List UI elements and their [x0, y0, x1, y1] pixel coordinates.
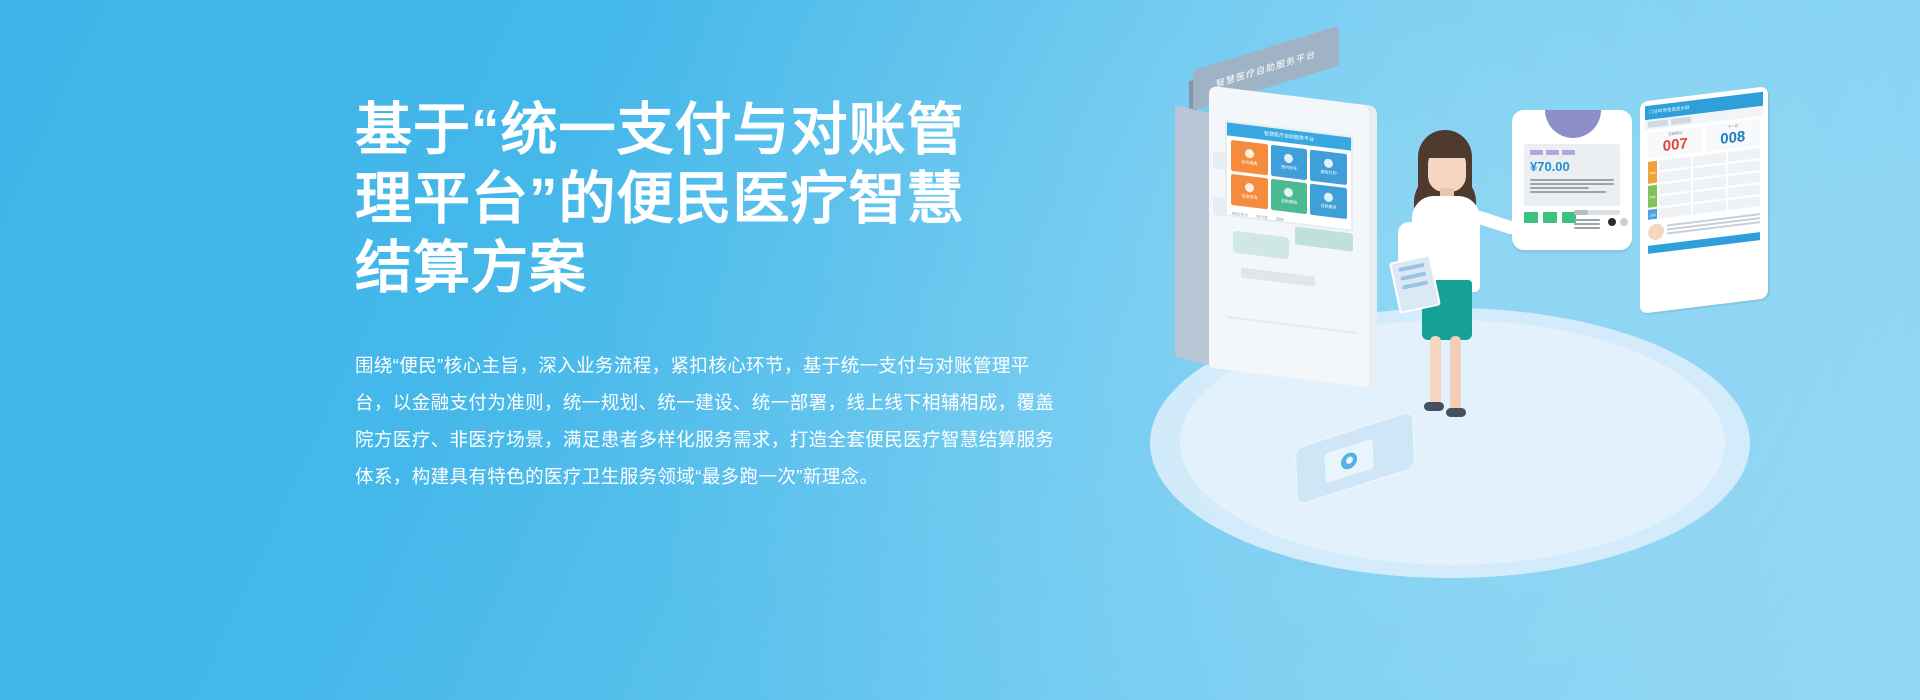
e-card-icon [1341, 450, 1358, 471]
self-service-kiosk: 智慧医疗自助服务平台 智慧医疗自助服务平台 挂号缴费 预约挂号 [1175, 48, 1405, 378]
receipt-line-1 [1530, 179, 1614, 181]
payment-tab-3 [1562, 150, 1575, 155]
payment-slider-knob [1574, 210, 1588, 215]
kiosk-tile-icon-1 [1284, 153, 1293, 163]
payment-slider-bar [1574, 210, 1620, 215]
payment-terminal-indicators [1608, 218, 1628, 226]
queue-subheader-chip-2 [1671, 117, 1691, 125]
payment-terminal-keys [1524, 212, 1576, 223]
doctor-leg-left [1430, 336, 1441, 406]
page-title-line-3: 结算方案 [355, 234, 1115, 303]
payment-note-3 [1574, 227, 1600, 229]
banner-description-line-2: 台，以金融支付为准则，统一规划、统一建设、统一部署，线上线下相辅相成，覆盖 [355, 384, 1110, 421]
kiosk-tile-2: 报告打印 [1310, 150, 1347, 186]
page-title-line-1: 基于“统一支付与对账管 [355, 96, 1115, 165]
clipboard-line-1 [1398, 263, 1424, 272]
kiosk-tile-icon-3 [1245, 183, 1254, 193]
banner-description-line-1: 围绕“便民”核心主旨，深入业务流程，紧扣核心环节，基于统一支付与对账管理平 [355, 347, 1110, 384]
payment-tab-1 [1530, 150, 1543, 155]
payment-note-2 [1574, 223, 1600, 225]
kiosk-tile-5: 住院服务 [1310, 184, 1347, 220]
payment-terminal: ¥70.00 [1512, 110, 1632, 250]
banner-copy-block: 基于“统一支付与对账管 理平台”的便民医疗智慧 结算方案 围绕“便民”核心主旨，… [355, 96, 1115, 495]
payment-key-1 [1524, 212, 1538, 223]
kiosk-tile-icon-2 [1324, 158, 1333, 168]
receipt-line-2 [1530, 183, 1614, 185]
kiosk-tile-label-1: 预约挂号 [1281, 164, 1297, 172]
kiosk-tile-icon-4 [1284, 187, 1293, 197]
queue-row-tag-0: 内科 [1648, 161, 1657, 184]
payment-receipt-lines [1530, 179, 1614, 193]
kiosk-screen: 智慧医疗自助服务平台 挂号缴费 预约挂号 报告打印 [1225, 120, 1353, 232]
banner-description-line-3: 院方医疗、非医疗场景，满足患者多样化服务需求，打造全套便民医疗智慧结算服务 [355, 421, 1110, 458]
kiosk-tile-label-3: 信息查询 [1241, 193, 1257, 201]
kiosk-payment-logo-2: 银联 [1276, 216, 1284, 223]
payment-amount: ¥70.00 [1530, 159, 1614, 174]
kiosk-tile-3: 信息查询 [1231, 174, 1268, 210]
patient-avatar [1648, 223, 1664, 241]
payment-tab-2 [1546, 150, 1559, 155]
hero-banner: 基于“统一支付与对账管 理平台”的便民医疗智慧 结算方案 围绕“便民”核心主旨，… [0, 0, 1920, 700]
kiosk-tile-label-4: 自助建档 [1281, 198, 1297, 206]
payment-note-1 [1574, 219, 1600, 221]
queue-board-frame: 门诊叫号信息显示屏 当前就诊 007 下一位 008 [1640, 86, 1768, 314]
kiosk-tile-label-5: 住院服务 [1321, 203, 1337, 211]
clipboard-line-3 [1402, 280, 1428, 289]
kiosk-tile-4: 自助建档 [1271, 179, 1308, 215]
indicator-dot-inactive [1620, 218, 1628, 226]
queue-current: 当前就诊 007 [1648, 126, 1703, 159]
queue-subheader-chip-1 [1648, 119, 1668, 127]
clipboard-line-2 [1400, 272, 1426, 281]
kiosk-sign-label: 智慧医疗自助服务平台 [1216, 46, 1316, 90]
queue-display-board: 门诊叫号信息显示屏 当前就诊 007 下一位 008 [1640, 86, 1768, 314]
queue-row-tag-1: 外科 [1648, 185, 1657, 208]
kiosk-tile-1: 预约挂号 [1271, 145, 1308, 181]
payment-terminal-screen: ¥70.00 [1524, 144, 1620, 206]
payment-key-2 [1543, 212, 1557, 223]
kiosk-tile-0: 挂号缴费 [1231, 140, 1268, 176]
indicator-dot-active [1608, 218, 1616, 226]
banner-description-line-4: 体系，构建具有特色的医疗卫生服务领域“最多跑一次”新理念。 [355, 458, 1110, 495]
kiosk-tile-label-0: 挂号缴费 [1241, 159, 1257, 167]
page-title: 基于“统一支付与对账管 理平台”的便民医疗智慧 结算方案 [355, 96, 1115, 303]
receipt-line-3 [1530, 187, 1589, 189]
receipt-line-4 [1530, 191, 1606, 193]
kiosk-tile-label-2: 报告打印 [1321, 169, 1337, 177]
doctor-shoe-left [1424, 402, 1444, 411]
doctor-hair-fringe [1424, 138, 1470, 158]
banner-description: 围绕“便民”核心主旨，深入业务流程，紧扣核心环节，基于统一支付与对账管理平 台，… [355, 347, 1110, 495]
hero-illustration: 智慧医疗自助服务平台 智慧医疗自助服务平台 挂号缴费 预约挂号 [1120, 20, 1800, 660]
health-e-card [1325, 438, 1374, 483]
doctor-figure [1388, 130, 1518, 430]
queue-next: 下一位 008 [1706, 119, 1761, 152]
queue-board-title: 门诊叫号信息显示屏 [1649, 105, 1690, 116]
doctor-shoe-right [1446, 408, 1466, 417]
page-title-line-2: 理平台”的便民医疗智慧 [355, 165, 1115, 234]
kiosk-tile-icon-0 [1245, 149, 1254, 159]
payment-terminal-tabs [1530, 150, 1614, 155]
queue-row-tag-2: 儿科 [1648, 209, 1657, 220]
doctor-leg-right [1450, 336, 1461, 410]
kiosk-tile-icon-5 [1324, 192, 1333, 202]
